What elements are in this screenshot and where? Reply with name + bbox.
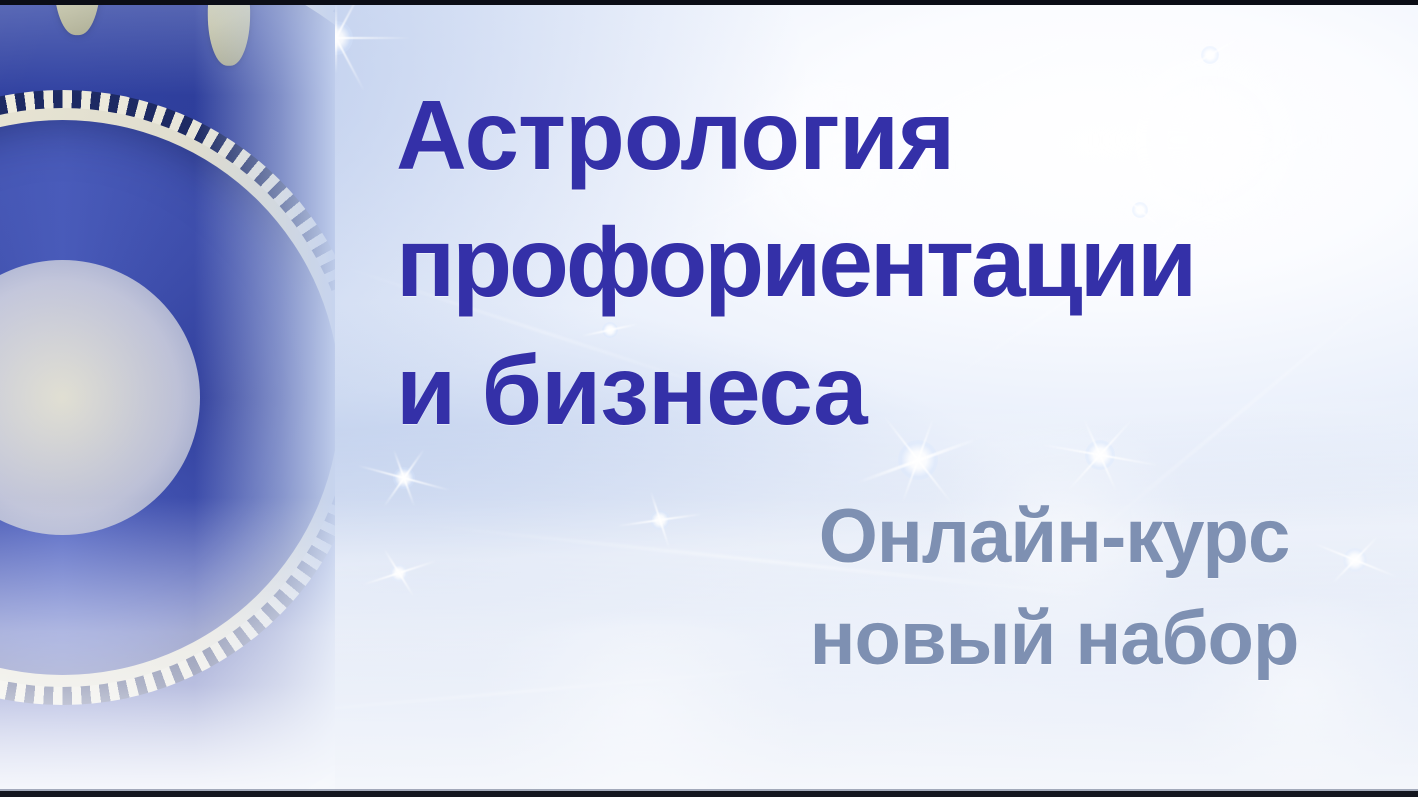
promo-banner: DECEMBER NOVEMBER OCTOBER — [0, 0, 1418, 797]
page-subtitle: Онлайн-курс новый набор — [744, 486, 1364, 690]
subhead-line-1: Онлайн-курс — [744, 486, 1364, 588]
page-title: Астрология профориентации и бизнеса — [396, 72, 1406, 454]
headline-line-1: Астрология — [396, 72, 1406, 199]
bottom-letterbox-edge — [0, 791, 1418, 797]
headline-line-3: и бизнеса — [396, 327, 1406, 454]
subhead-line-2: новый набор — [744, 588, 1364, 690]
headline-line-2: профориентации — [396, 199, 1406, 326]
top-letterbox-edge — [0, 0, 1418, 5]
